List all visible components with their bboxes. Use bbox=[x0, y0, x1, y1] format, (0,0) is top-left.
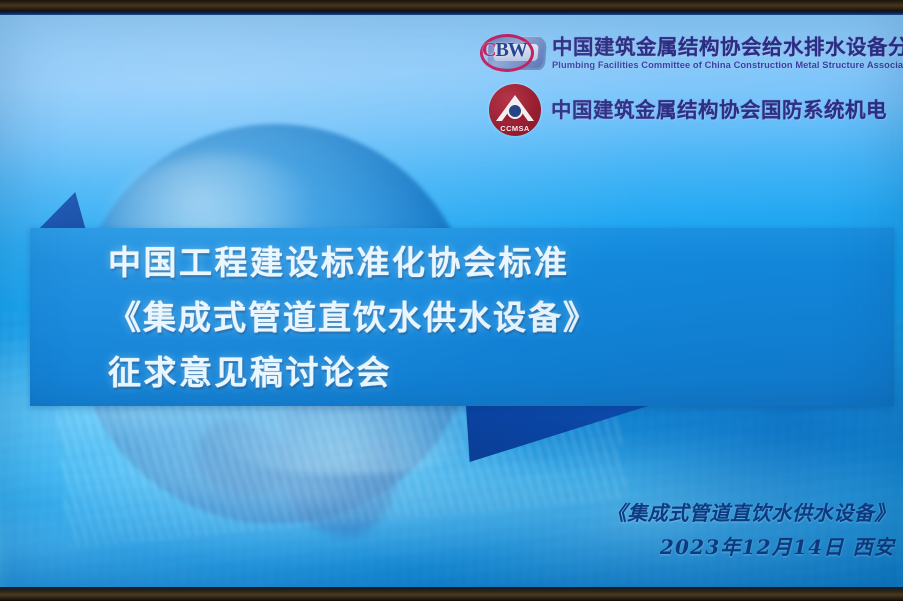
organization-name-en-cbw: Plumbing Facilities Committee of China C… bbox=[552, 60, 903, 70]
organization-name-cn-ccmsa: 中国建筑金属结构协会国防系统机电 bbox=[551, 99, 887, 121]
caption-standard-name: 《集成式管道直饮水供水设备》 bbox=[607, 497, 895, 526]
organization-name-cn-cbw: 中国建筑金属结构协会给水排水设备分会 bbox=[552, 36, 903, 58]
organization-row-cbw: CBW 中国建筑金属结构协会给水排水设备分会 Plumbing Faciliti… bbox=[480, 34, 903, 72]
cbw-name-block: 中国建筑金属结构协会给水排水设备分会 Plumbing Facilities C… bbox=[552, 36, 903, 70]
cbw-logo-icon: CBW bbox=[480, 34, 546, 72]
organization-row-ccmsa: CCMSA 中国建筑金属结构协会国防系统机电 bbox=[480, 84, 903, 136]
slide-title-line-3: 征求意见稿讨论会 bbox=[108, 345, 894, 400]
cbw-logo-wordmark: CBW bbox=[482, 40, 544, 60]
slide-header-logos: CBW 中国建筑金属结构协会给水排水设备分会 Plumbing Faciliti… bbox=[480, 34, 903, 136]
screen-bezel-top-highlight bbox=[0, 11, 903, 15]
ccmsa-logo-center-circle bbox=[507, 103, 523, 119]
slide-title-line-1: 中国工程建设标准化协会标准 bbox=[108, 235, 894, 290]
slide-title-banner: 中国工程建设标准化协会标准 《集成式管道直饮水供水设备》 征求意见稿讨论会 bbox=[30, 228, 894, 406]
slide-footer-caption: 《集成式管道直饮水供水设备》 2023年12月14日 西安 bbox=[607, 497, 895, 560]
projector-screen-photo: CBW 中国建筑金属结构协会给水排水设备分会 Plumbing Faciliti… bbox=[0, 0, 903, 601]
slide-title-line-2: 《集成式管道直饮水供水设备》 bbox=[108, 290, 894, 345]
ccmsa-logo-wordmark: CCMSA bbox=[489, 124, 541, 133]
presentation-slide: CBW 中国建筑金属结构协会给水排水设备分会 Plumbing Faciliti… bbox=[0, 14, 903, 588]
screen-bezel-bottom bbox=[0, 587, 903, 601]
caption-date-location: 2023年12月14日 西安 bbox=[607, 531, 895, 560]
slide-title-banner-inner: 中国工程建设标准化协会标准 《集成式管道直饮水供水设备》 征求意见稿讨论会 bbox=[30, 228, 894, 406]
ccmsa-logo-icon: CCMSA bbox=[489, 84, 541, 136]
ccmsa-name-block: 中国建筑金属结构协会国防系统机电 bbox=[551, 99, 887, 121]
